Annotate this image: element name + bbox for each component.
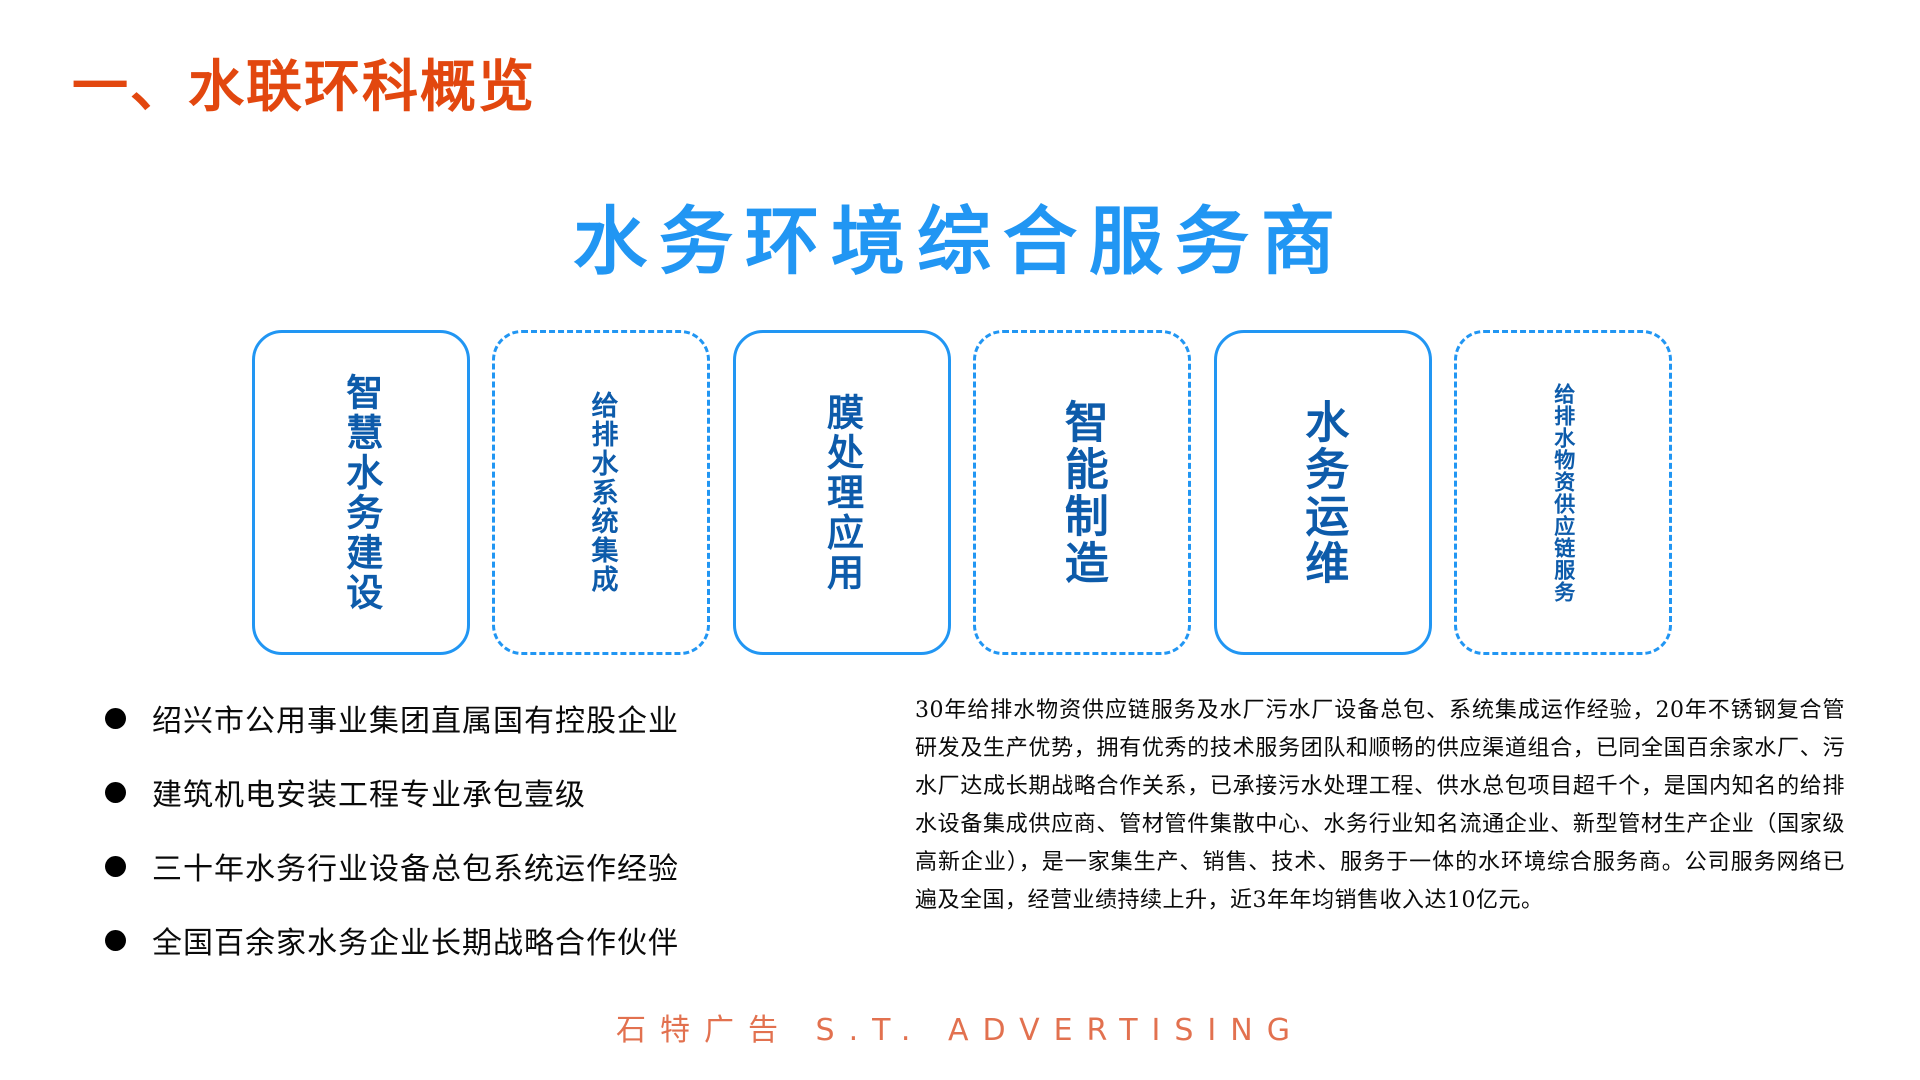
bullet-text-4: 全国百余家水务企业长期战略合作伙伴 (152, 918, 679, 962)
pillar-row: 智慧水务建设 给排水系统集成 膜处理应用 智能制造 水务运维 给排水物资供应链服… (252, 330, 1672, 655)
pillar-label-6: 给排水物资供应链服务 (1551, 383, 1575, 603)
pillar-box-3: 膜处理应用 (733, 330, 951, 655)
lower-content: 绍兴市公用事业集团直属国有控股企业 建筑机电安装工程专业承包壹级 三十年水务行业… (0, 690, 1920, 970)
pillar-box-2: 给排水系统集成 (492, 330, 710, 655)
page-headline: 水务环境综合服务商 (0, 182, 1920, 289)
pillar-box-4: 智能制造 (973, 330, 1191, 655)
footer-watermark: 石特广告 S.T. ADVERTISING (0, 1005, 1920, 1049)
bullet-text-1: 绍兴市公用事业集团直属国有控股企业 (152, 696, 679, 740)
bullet-text-2: 建筑机电安装工程专业承包壹级 (152, 770, 586, 814)
pillar-label-3: 膜处理应用 (821, 393, 862, 593)
bullet-dot-icon (105, 782, 126, 803)
pillar-box-1: 智慧水务建设 (252, 330, 470, 655)
pillar-box-6: 给排水物资供应链服务 (1454, 330, 1672, 655)
bullet-dot-icon (105, 708, 126, 729)
pillar-label-4: 智能制造 (1058, 399, 1107, 587)
pillar-box-5: 水务运维 (1214, 330, 1432, 655)
company-description-paragraph: 30年给排水物资供应链服务及水厂污水厂设备总包、系统集成运作经验，20年不锈钢复… (915, 692, 1845, 920)
list-item: 绍兴市公用事业集团直属国有控股企业 (105, 690, 875, 746)
list-item: 建筑机电安装工程专业承包壹级 (105, 764, 875, 820)
list-item: 三十年水务行业设备总包系统运作经验 (105, 838, 875, 894)
bullet-text-3: 三十年水务行业设备总包系统运作经验 (152, 844, 679, 888)
bullet-dot-icon (105, 856, 126, 877)
bullet-dot-icon (105, 930, 126, 951)
credentials-bullet-list: 绍兴市公用事业集团直属国有控股企业 建筑机电安装工程专业承包壹级 三十年水务行业… (105, 690, 875, 986)
list-item: 全国百余家水务企业长期战略合作伙伴 (105, 912, 875, 968)
pillar-label-1: 智慧水务建设 (340, 373, 381, 613)
pillar-label-5: 水务运维 (1298, 399, 1347, 587)
pillar-label-2: 给排水系统集成 (586, 391, 616, 594)
section-title: 一、水联环科概览 (72, 42, 536, 123)
